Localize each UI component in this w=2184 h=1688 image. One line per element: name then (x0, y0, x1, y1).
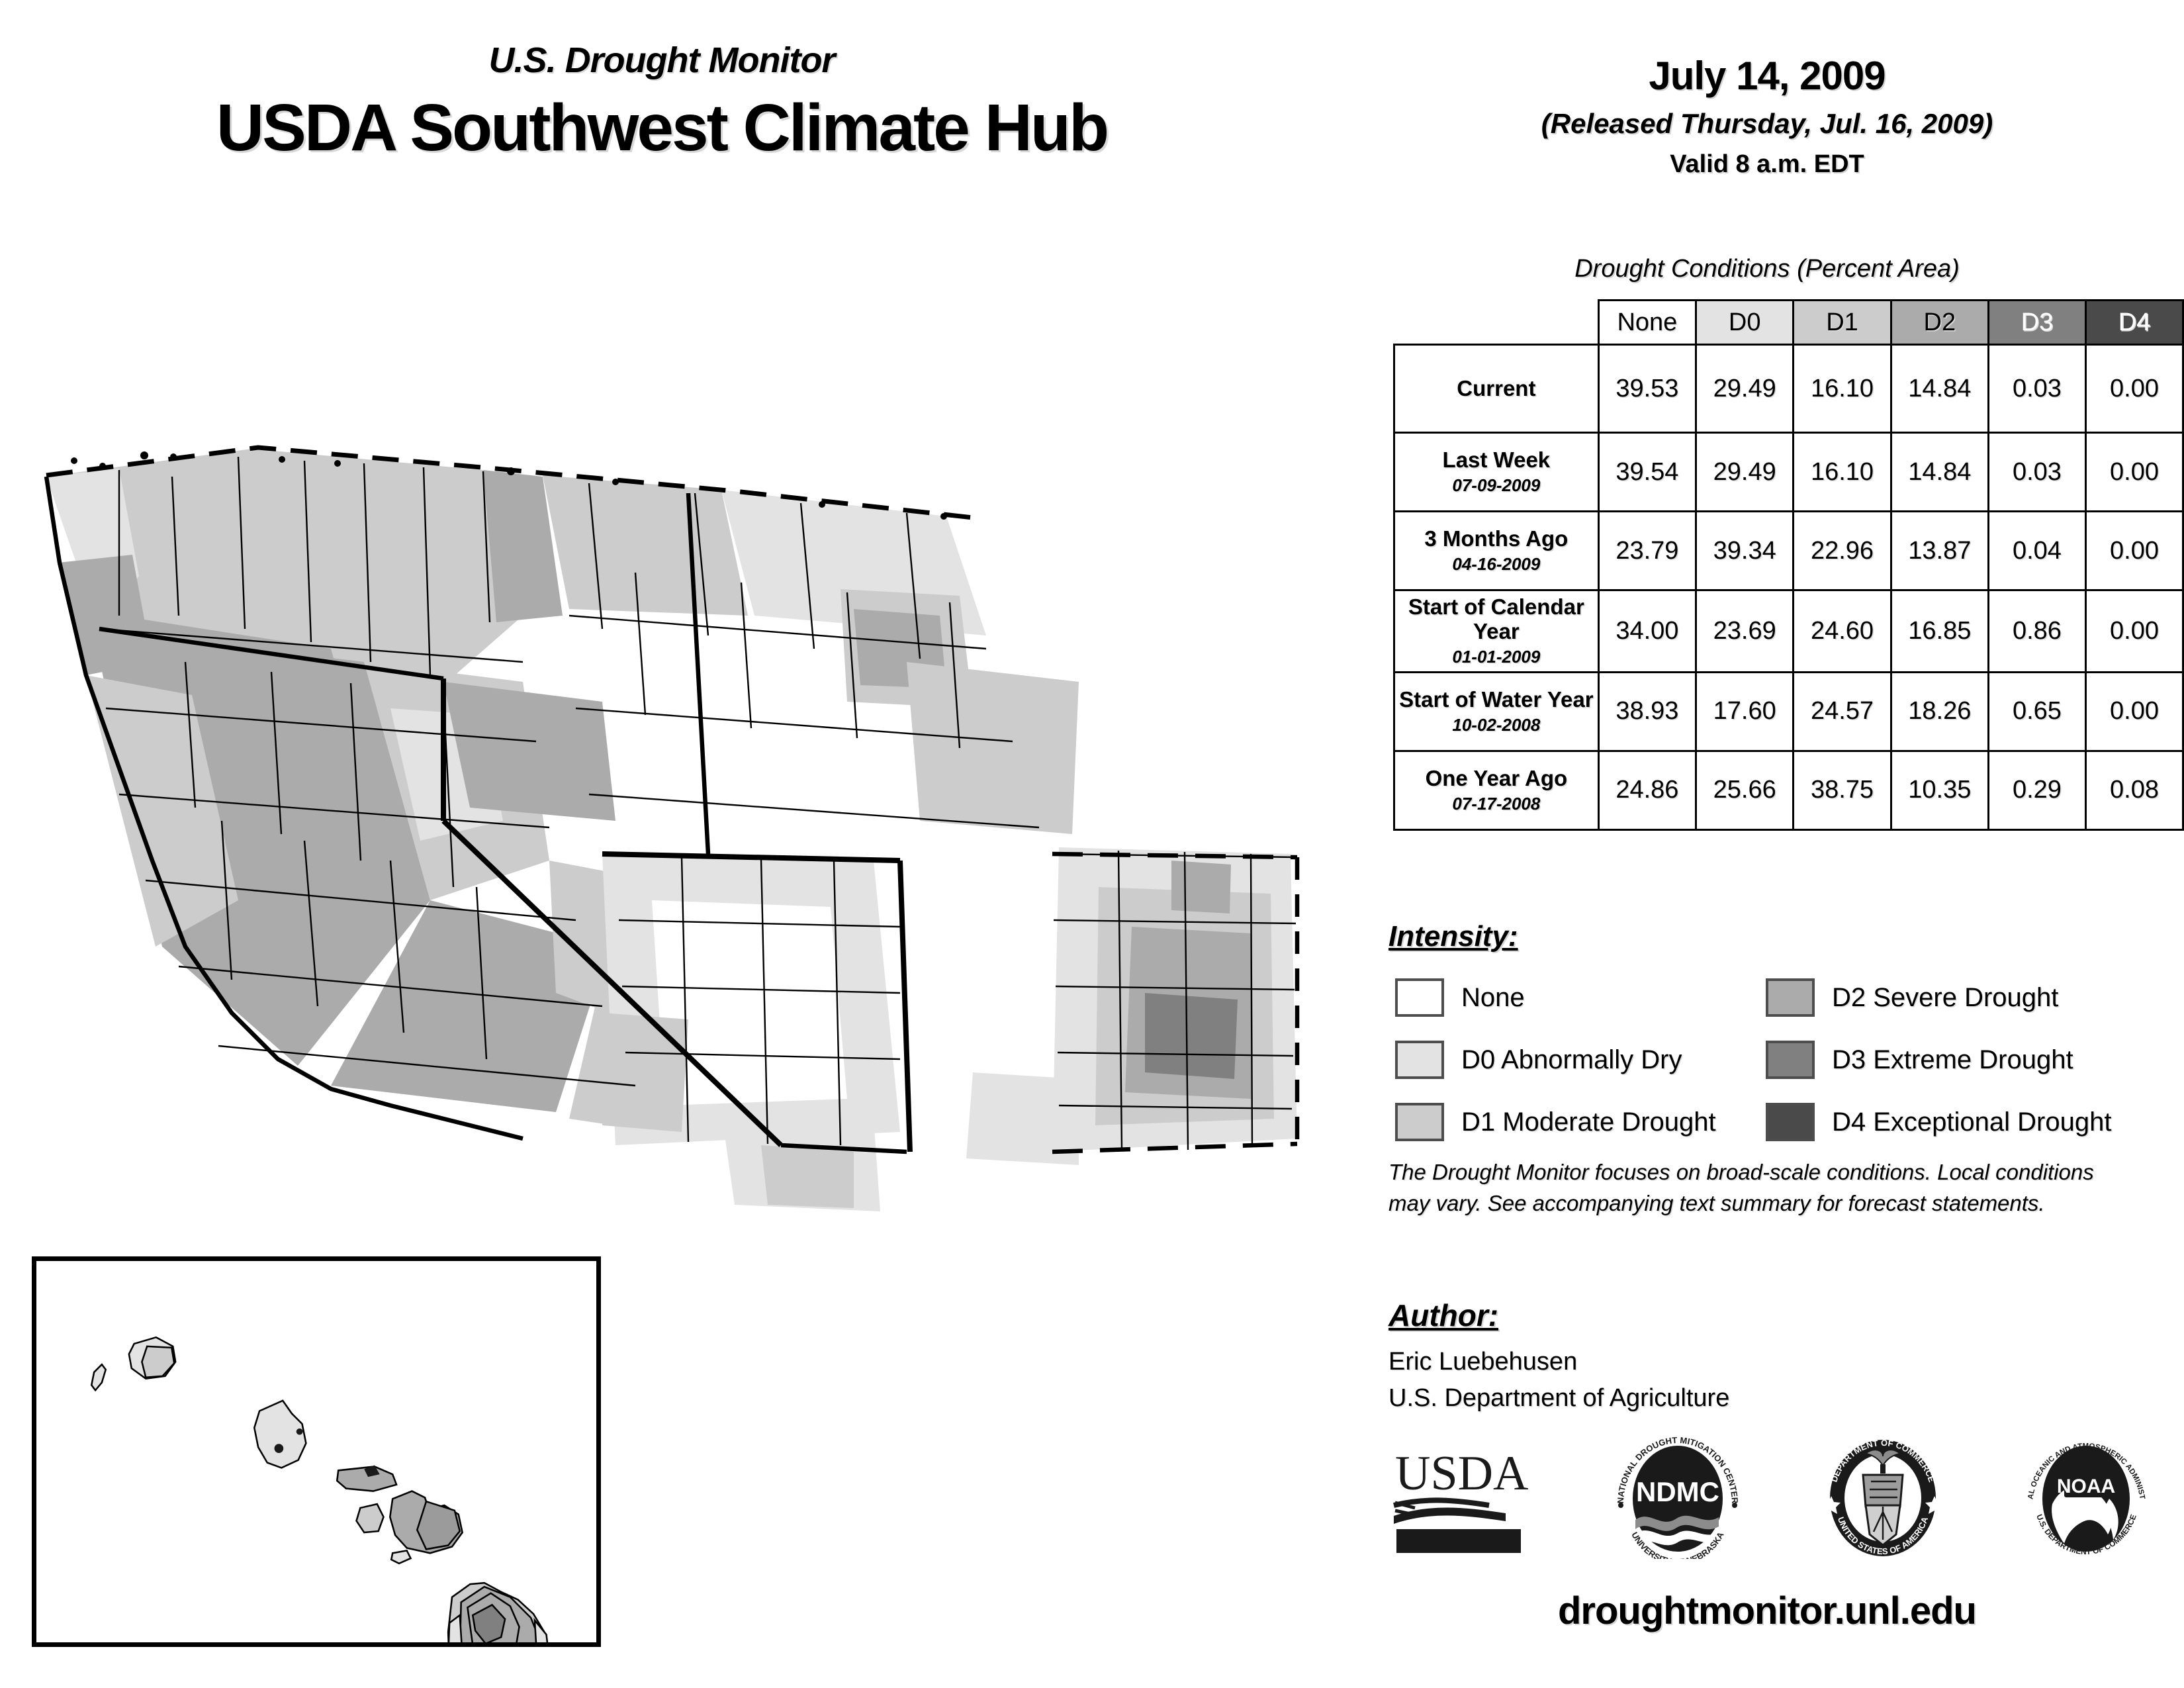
legend-item-d2: D2 Severe Drought (1766, 972, 2111, 1023)
map-drought-shading (46, 449, 1297, 1211)
legend-label-d1: D1 Moderate Drought (1461, 1107, 1716, 1137)
cell-wy-d4: 0.00 (2085, 672, 2183, 751)
cell-lastweek-d3: 0.03 (1988, 433, 2085, 512)
svg-text:USDA: USDA (1395, 1446, 1528, 1501)
cell-cal-d4: 0.00 (2085, 590, 2183, 673)
column-header-d2: D2 (1891, 301, 1988, 345)
row-label-name: Start of Water Year (1398, 688, 1595, 712)
row-label-date: 07-17-2008 (1398, 794, 1595, 814)
legend-label-d4: D4 Exceptional Drought (1832, 1107, 2111, 1137)
author-heading: Author: (1388, 1297, 1498, 1333)
cell-wy-d0: 17.60 (1696, 672, 1794, 751)
swatch-d0-icon (1395, 1041, 1444, 1079)
cell-wy-d3: 0.65 (1988, 672, 2085, 751)
noaa-logo: NOAA NATIONAL OCEANIC AND ATMOSPHERIC AD… (2015, 1435, 2158, 1564)
cell-1yr-d4: 0.08 (2085, 751, 2183, 829)
cell-current-d4: 0.00 (2085, 345, 2183, 433)
main-title-block: U.S. Drought Monitor USDA Southwest Clim… (0, 40, 1324, 166)
cell-wy-d1: 24.57 (1794, 672, 1891, 751)
cell-1yr-d1: 38.75 (1794, 751, 1891, 829)
page-title: USDA Southwest Climate Hub (0, 90, 1324, 166)
disclaimer-text: The Drought Monitor focuses on broad-sca… (1388, 1157, 2130, 1219)
cell-lastweek-d4: 0.00 (2085, 433, 2183, 512)
cell-cal-d2: 16.85 (1891, 590, 1988, 673)
column-header-d1: D1 (1794, 301, 1891, 345)
row-label-start-of-calendar-year: Start of Calendar Year 01-01-2009 (1394, 590, 1599, 673)
column-header-d4: D4 (2085, 301, 2183, 345)
drought-monitor-suptitle: U.S. Drought Monitor (0, 40, 1324, 81)
legend-column-right: D2 Severe Drought D3 Extreme Drought D4 … (1766, 972, 2111, 1158)
row-label-one-year-ago: One Year Ago 07-17-2008 (1394, 751, 1599, 829)
legend-item-d1: D1 Moderate Drought (1395, 1096, 1716, 1148)
legend-label-d0: D0 Abnormally Dry (1461, 1045, 1682, 1075)
cell-cal-d3: 0.86 (1988, 590, 2085, 673)
cell-3mo-d3: 0.04 (1988, 512, 2085, 590)
cell-lastweek-d0: 29.49 (1696, 433, 1794, 512)
cell-1yr-d3: 0.29 (1988, 751, 2085, 829)
drought-conditions-table: None D0 D1 D2 D3 D4 Current 39.53 29.49 … (1393, 299, 2184, 831)
legend-label-d2: D2 Severe Drought (1832, 983, 2058, 1013)
table-header: None D0 D1 D2 D3 D4 (1394, 301, 2183, 345)
row-label-name: 3 Months Ago (1398, 527, 1595, 551)
table-corner-cell (1394, 301, 1599, 345)
swatch-d4-icon (1766, 1103, 1815, 1141)
hawaii-inset-svg (36, 1261, 596, 1642)
row-label-name: Last Week (1398, 448, 1595, 473)
release-date: (Released Thursday, Jul. 16, 2009) (1377, 108, 2158, 140)
author-affiliation: U.S. Department of Agriculture (1388, 1380, 1729, 1417)
legend-label-none: None (1461, 983, 1525, 1013)
cell-3mo-d1: 22.96 (1794, 512, 1891, 590)
hawaii-islands (91, 1337, 549, 1642)
date-block: July 14, 2009 (Released Thursday, Jul. 1… (1377, 53, 2158, 179)
legend-item-d3: D3 Extreme Drought (1766, 1034, 2111, 1086)
author-block: Eric Luebehusen U.S. Department of Agric… (1388, 1344, 1729, 1417)
swatch-d1-icon (1395, 1103, 1444, 1141)
ndmc-logo: NDMC NATIONAL DROUGHT MITIGATION CENTER … (1605, 1436, 1751, 1562)
drought-map-svg (20, 397, 1317, 1258)
table-header-row: None D0 D1 D2 D3 D4 (1394, 301, 2183, 345)
cell-lastweek-d1: 16.10 (1794, 433, 1891, 512)
issue-date: July 14, 2009 (1377, 53, 2158, 99)
swatch-none-icon (1395, 978, 1444, 1017)
cell-cal-none: 34.00 (1598, 590, 1696, 673)
row-label-name: Current (1398, 377, 1595, 401)
row-label-3-months-ago: 3 Months Ago 04-16-2009 (1394, 512, 1599, 590)
drought-map (20, 397, 1317, 1258)
row-label-name: Start of Calendar Year (1398, 595, 1595, 644)
row-label-date: 10-02-2008 (1398, 715, 1595, 735)
drought-conditions-caption: Drought Conditions (Percent Area) (1377, 255, 2158, 283)
column-header-none: None (1598, 301, 1696, 345)
swatch-d2-icon (1766, 978, 1815, 1017)
cell-current-d0: 29.49 (1696, 345, 1794, 433)
table-row: Current 39.53 29.49 16.10 14.84 0.03 0.0… (1394, 345, 2183, 433)
usda-logo: USDA (1390, 1442, 1539, 1558)
row-label-name: One Year Ago (1398, 767, 1595, 791)
site-url: droughtmonitor.unl.edu (1377, 1589, 2158, 1633)
logo-row: USDA NDMC NATIONAL DROUGHT MITIGATION CE… (1390, 1436, 2158, 1562)
cell-lastweek-d2: 14.84 (1891, 433, 1988, 512)
cell-current-d1: 16.10 (1794, 345, 1891, 433)
row-label-date: 04-16-2009 (1398, 554, 1595, 575)
legend-item-d4: D4 Exceptional Drought (1766, 1096, 2111, 1148)
cell-current-d2: 14.84 (1891, 345, 1988, 433)
cell-3mo-d2: 13.87 (1891, 512, 1988, 590)
table-row: Last Week 07-09-2009 39.54 29.49 16.10 1… (1394, 433, 2183, 512)
legend-item-d0: D0 Abnormally Dry (1395, 1034, 1716, 1086)
column-header-d3: D3 (1988, 301, 2085, 345)
cell-cal-d0: 23.69 (1696, 590, 1794, 673)
cell-3mo-d4: 0.00 (2085, 512, 2183, 590)
table-row: 3 Months Ago 04-16-2009 23.79 39.34 22.9… (1394, 512, 2183, 590)
cell-wy-d2: 18.26 (1891, 672, 1988, 751)
column-header-d0: D0 (1696, 301, 1794, 345)
row-label-last-week: Last Week 07-09-2009 (1394, 433, 1599, 512)
swatch-d3-icon (1766, 1041, 1815, 1079)
cell-wy-none: 38.93 (1598, 672, 1696, 751)
cell-1yr-d0: 25.66 (1696, 751, 1794, 829)
cell-1yr-d2: 10.35 (1891, 751, 1988, 829)
svg-text:NOAA: NOAA (2057, 1476, 2115, 1497)
table-row: Start of Water Year 10-02-2008 38.93 17.… (1394, 672, 2183, 751)
cell-current-none: 39.53 (1598, 345, 1696, 433)
cell-current-d3: 0.03 (1988, 345, 2085, 433)
legend-label-d3: D3 Extreme Drought (1832, 1045, 2073, 1075)
cell-3mo-d0: 39.34 (1696, 512, 1794, 590)
cell-3mo-none: 23.79 (1598, 512, 1696, 590)
valid-time: Valid 8 a.m. EDT (1377, 150, 2158, 179)
row-label-date: 01-01-2009 (1398, 647, 1595, 667)
department-of-commerce-seal: DEPARTMENT OF COMMERCE UNITED STATES OF … (1817, 1435, 1949, 1564)
svg-text:NDMC: NDMC (1636, 1476, 1719, 1507)
table-body: Current 39.53 29.49 16.10 14.84 0.03 0.0… (1394, 345, 2183, 830)
cell-1yr-none: 24.86 (1598, 751, 1696, 829)
table-row: Start of Calendar Year 01-01-2009 34.00 … (1394, 590, 2183, 673)
intensity-heading: Intensity: (1388, 920, 1518, 953)
cell-cal-d1: 24.60 (1794, 590, 1891, 673)
table-row: One Year Ago 07-17-2008 24.86 25.66 38.7… (1394, 751, 2183, 829)
hawaii-inset-map (32, 1256, 601, 1647)
cell-lastweek-none: 39.54 (1598, 433, 1696, 512)
row-label-date: 07-09-2009 (1398, 475, 1595, 496)
legend-item-none: None (1395, 972, 1716, 1023)
row-label-current: Current (1394, 345, 1599, 433)
row-label-start-of-water-year: Start of Water Year 10-02-2008 (1394, 672, 1599, 751)
legend-column-left: None D0 Abnormally Dry D1 Moderate Droug… (1395, 972, 1716, 1158)
author-name: Eric Luebehusen (1388, 1344, 1729, 1380)
